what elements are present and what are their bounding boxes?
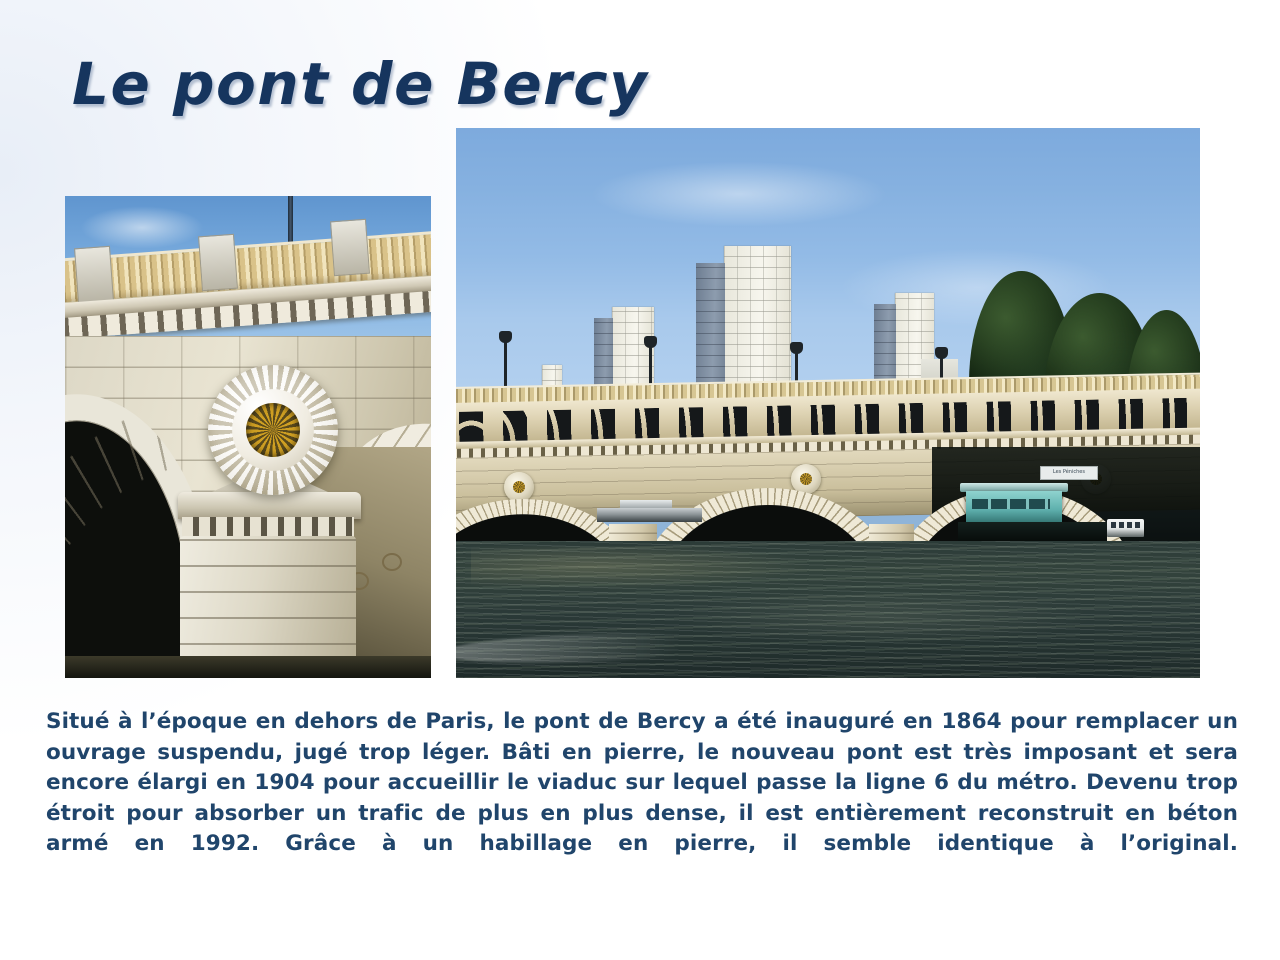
page-title: Le pont de Bercy Le pont de Bercy bbox=[72, 48, 772, 128]
balustrade-pillar bbox=[330, 219, 370, 277]
cloud-wisp bbox=[80, 206, 204, 249]
houseboat-hull bbox=[958, 522, 1107, 542]
mooring-ring-icon bbox=[382, 553, 402, 571]
cloud-wisp bbox=[590, 161, 888, 227]
quay-sign: Les Péniches bbox=[1040, 466, 1098, 480]
page-title-text: Le pont de Bercy bbox=[72, 48, 648, 120]
pier-rosette-medallion bbox=[504, 472, 534, 502]
pedestal-cap bbox=[178, 492, 361, 519]
pedestal-dentils bbox=[182, 517, 354, 538]
body-paragraph: Situé à l’époque en dehors de Paris, le … bbox=[46, 707, 1238, 890]
quay-sign-label: Les Péniches bbox=[1041, 467, 1097, 479]
medallion-gold-rosette bbox=[246, 403, 300, 457]
moored-barge bbox=[597, 508, 701, 522]
bnf-tower bbox=[724, 246, 791, 400]
small-white-boat-windows bbox=[1111, 522, 1141, 529]
waterline-shadow bbox=[65, 656, 431, 678]
slide-canvas: Le pont de Bercy Le pont de Bercy bbox=[0, 0, 1280, 960]
balustrade-pillar bbox=[74, 245, 114, 303]
medallion-center-holder bbox=[208, 365, 338, 495]
photo-bercy-pier-closeup bbox=[65, 196, 431, 678]
balustrade-pillar bbox=[198, 233, 238, 291]
pier-rosette-medallion bbox=[791, 464, 821, 494]
cutwater-pier bbox=[180, 536, 356, 671]
bnf-tower-side-face bbox=[696, 263, 725, 401]
water-reflection bbox=[471, 546, 813, 590]
water-reflection bbox=[679, 590, 1088, 645]
houseboat-windows bbox=[972, 499, 1050, 509]
photo-bercy-bridge-seine: Les Péniches bbox=[456, 128, 1200, 678]
